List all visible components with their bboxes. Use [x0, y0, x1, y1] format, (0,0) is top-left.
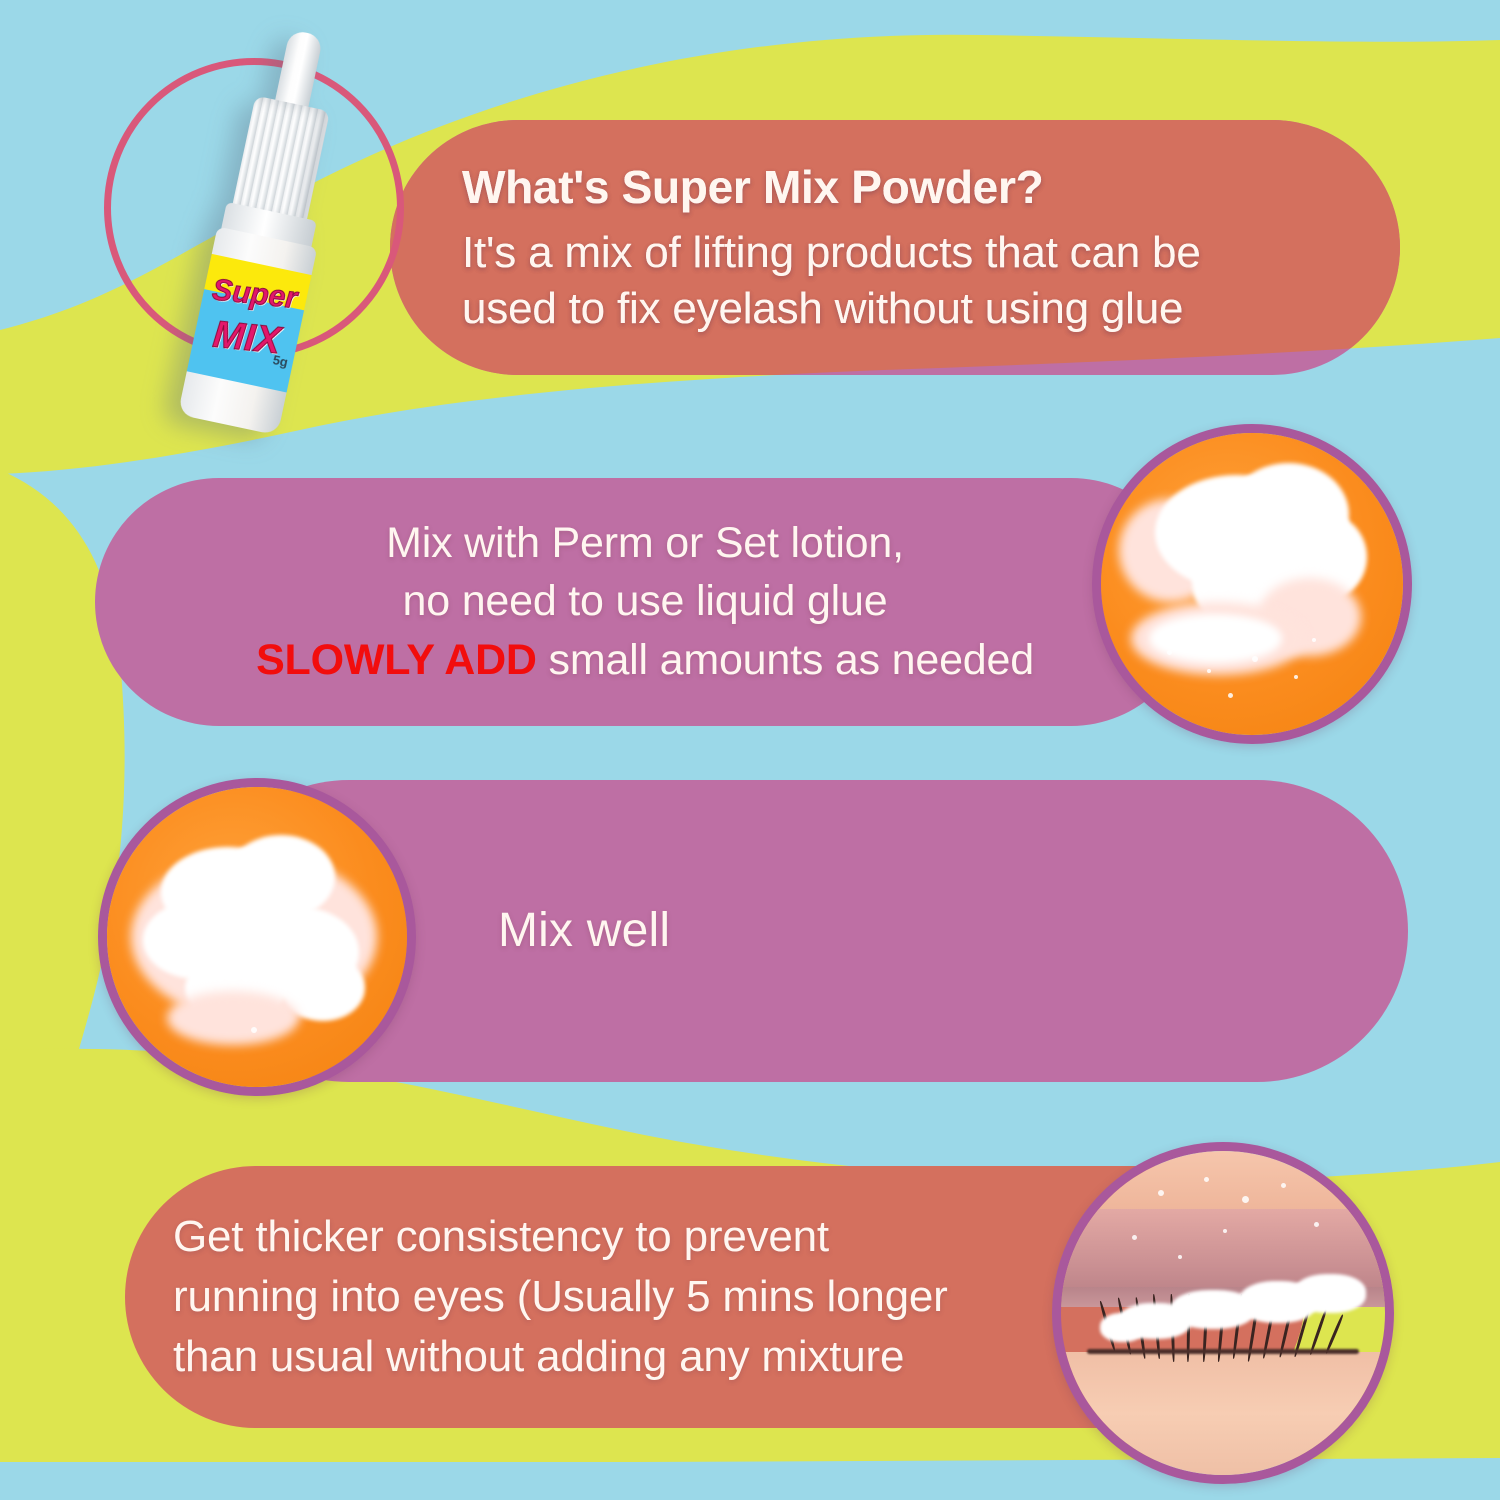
- photo-foam-powder-top: [1092, 424, 1412, 744]
- photo-foam-powder-top-image: [1101, 433, 1403, 735]
- bottle-label: Super MIX 5g: [187, 254, 312, 393]
- mix-line-3: SLOWLY ADD small amounts as needed: [123, 633, 1167, 688]
- mix-line-1: Mix with Perm or Set lotion,: [123, 516, 1167, 571]
- photo-foam-powder-mixed-image: [107, 787, 407, 1087]
- product-bottle-group: Super MIX 5g: [92, 10, 452, 460]
- slowly-add-tail: small amounts as needed: [537, 636, 1034, 684]
- intro-line-2-top: used to fix eyelash without using glue: [462, 281, 1400, 337]
- step-mix-lotion-banner: Mix with Perm or Set lotion, no need to …: [95, 478, 1195, 726]
- intro-title-top: What's Super Mix Powder?: [462, 158, 1400, 217]
- photo-eyelash-cream: [1052, 1142, 1394, 1484]
- mix-line-2: no need to use liquid glue: [123, 574, 1167, 629]
- infographic-canvas: What's Super Mix Powder? It's a mix of l…: [0, 0, 1500, 1500]
- bottle-label-brand-line1: Super: [211, 273, 299, 316]
- mixwell-line-1: Mix well: [498, 900, 1408, 961]
- bottle-label-weight: 5g: [271, 352, 289, 370]
- photo-eyelash-cream-image: [1061, 1151, 1385, 1475]
- slowly-add-emphasis: SLOWLY ADD: [256, 636, 537, 684]
- step-intro-banner-text-layer: What's Super Mix Powder? It's a mix of l…: [390, 120, 1400, 375]
- banner-mix-text: Mix with Perm or Set lotion, no need to …: [95, 513, 1195, 690]
- bottle-label-brand-line2: MIX: [211, 314, 283, 364]
- intro-line-1-top: It's a mix of lifting products that can …: [462, 225, 1400, 281]
- banner-intro-text-top: What's Super Mix Powder? It's a mix of l…: [390, 158, 1400, 338]
- photo-foam-powder-mixed: [98, 778, 416, 1096]
